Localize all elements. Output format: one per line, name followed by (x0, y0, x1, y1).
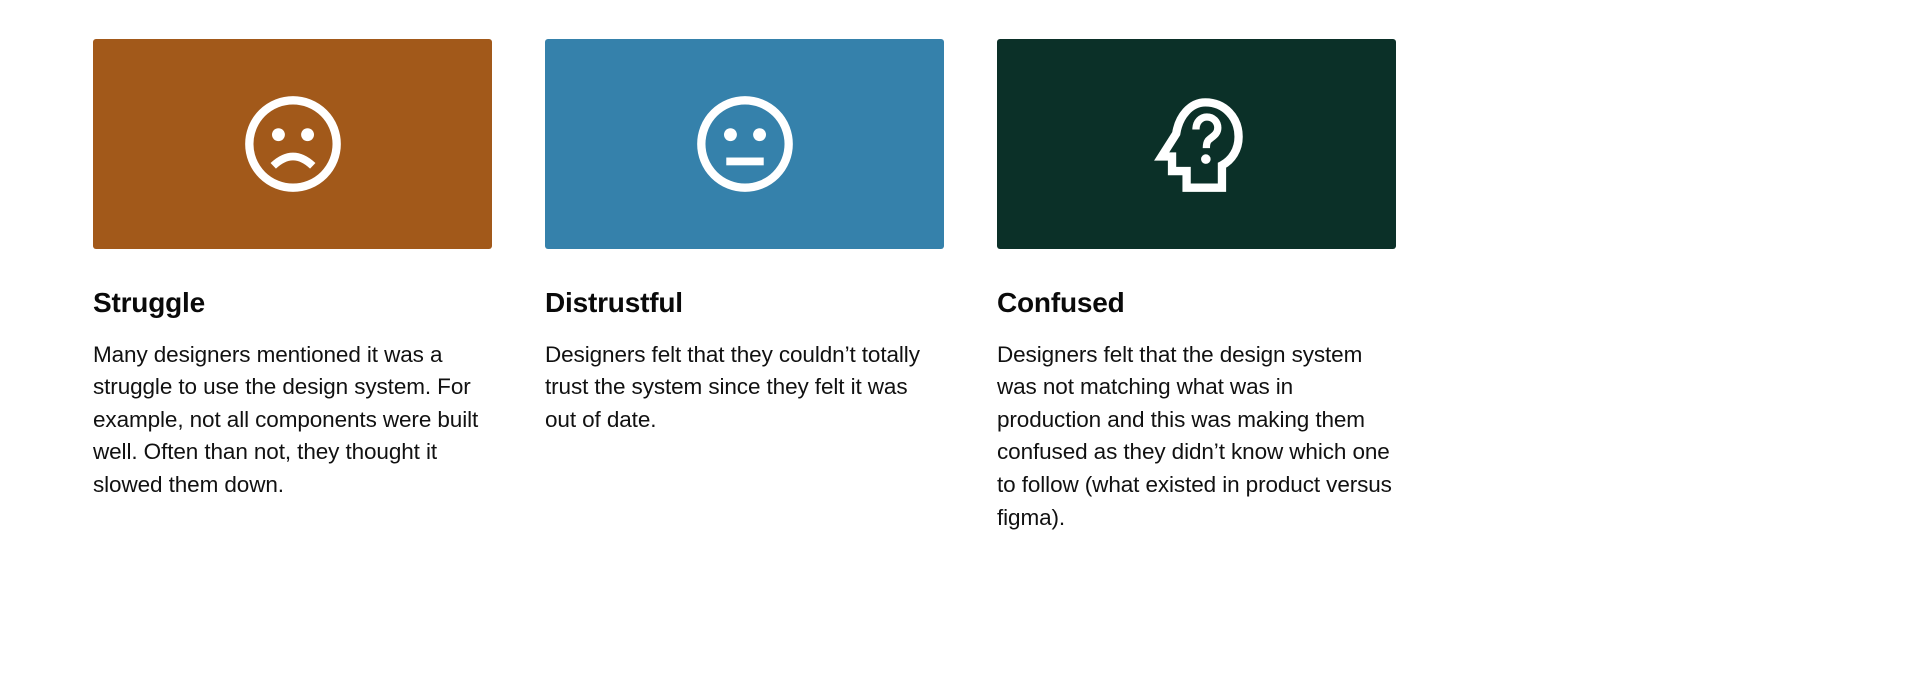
card-body-struggle: Many designers mentioned it was a strugg… (93, 339, 492, 502)
card-body-confused: Designers felt that the design system wa… (997, 339, 1396, 535)
page-root: Struggle Many designers mentioned it was… (0, 0, 1920, 681)
card-body-distrustful: Designers felt that they couldn’t totall… (545, 339, 944, 437)
card-distrustful (545, 39, 944, 249)
column-confused: Confused Designers felt that the design … (997, 39, 1396, 534)
column-struggle: Struggle Many designers mentioned it was… (93, 39, 492, 534)
frowning-face-icon (241, 92, 345, 196)
column-distrustful: Distrustful Designers felt that they cou… (545, 39, 944, 534)
card-title-confused: Confused (997, 286, 1396, 320)
neutral-face-icon (693, 92, 797, 196)
card-struggle (93, 39, 492, 249)
card-columns: Struggle Many designers mentioned it was… (93, 39, 1827, 534)
card-title-struggle: Struggle (93, 286, 492, 320)
card-title-distrustful: Distrustful (545, 286, 944, 320)
card-confused (997, 39, 1396, 249)
head-question-mark-icon (1145, 92, 1249, 196)
